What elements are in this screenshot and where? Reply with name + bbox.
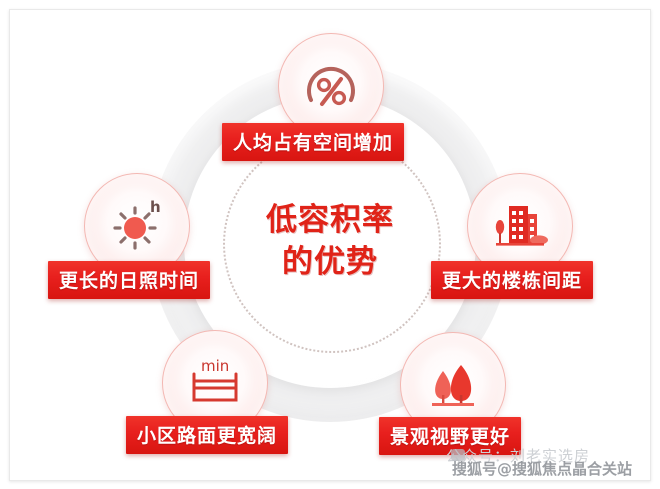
two-trees-icon [423, 359, 483, 411]
watermark-bold: 搜狐号@搜狐焦点晶合关站 [452, 458, 632, 479]
road-width-min-icon: min [184, 356, 246, 410]
percent-gauge-icon [303, 60, 359, 112]
label-right[interactable]: 更大的楼栋间距 [431, 261, 593, 299]
sun-hour-icon-text: h [150, 199, 161, 216]
label-top[interactable]: 人均占有空间增加 [222, 123, 404, 161]
center-title-line1: 低容积率 [266, 201, 394, 241]
sun-hour-icon: h [108, 199, 166, 253]
center-title: 低容积率 的优势 [223, 135, 437, 349]
label-bottomleft[interactable]: 小区路面更宽阔 [126, 416, 288, 454]
road-width-min-icon-text: min [201, 357, 229, 375]
center-title-line2: 的优势 [282, 243, 378, 283]
label-left[interactable]: 更长的日照时间 [48, 261, 210, 299]
infographic-canvas: 低容积率 的优势 人均占有空间增加 [0, 0, 660, 489]
building-tree-icon [491, 198, 549, 254]
